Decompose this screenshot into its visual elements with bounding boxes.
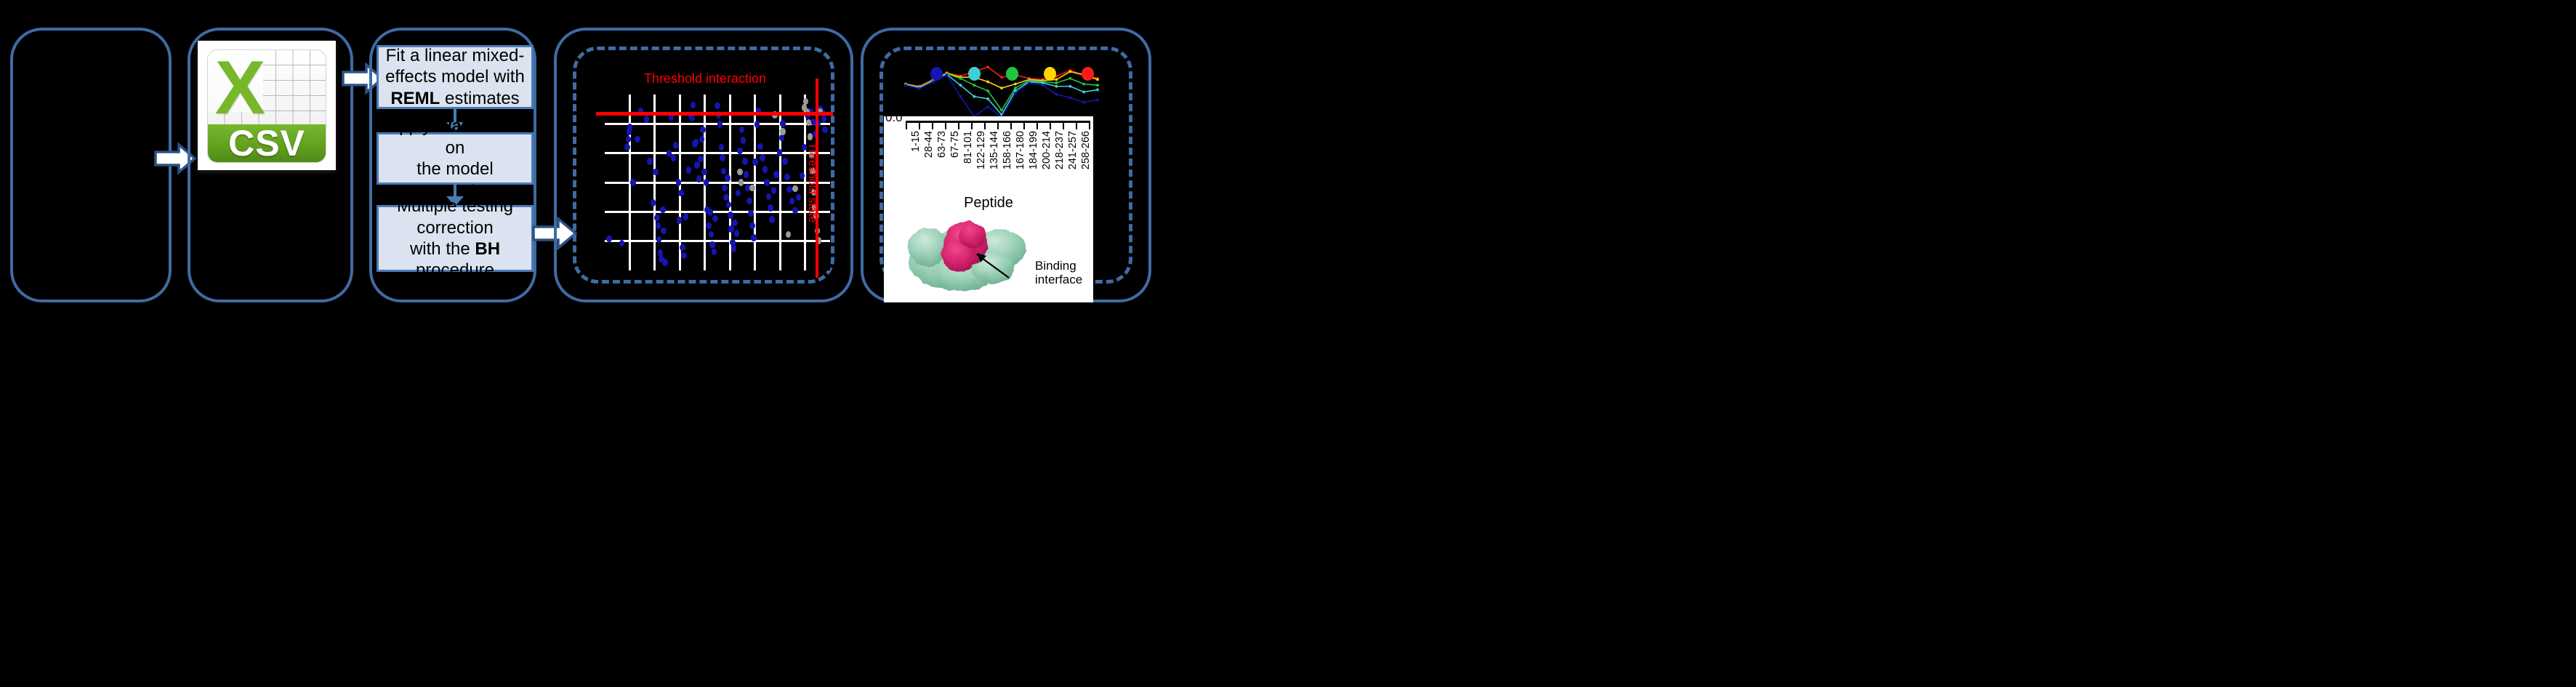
scatter-point: [712, 249, 717, 256]
peptide-series-marker: [904, 84, 907, 87]
scatter-point: [680, 244, 685, 252]
peptide-axis-tick-label: 167-180: [1015, 131, 1026, 169]
scatter-point: [752, 158, 758, 166]
threshold-scatter-chart: Threshold interaction Threshold state: [574, 54, 836, 278]
scatter-point: [751, 234, 757, 241]
peptide-series-marker: [1000, 87, 1003, 89]
scatter-point: [760, 154, 765, 161]
scatter-point: [757, 143, 763, 150]
csv-label: CSV: [228, 125, 305, 161]
grid-line-horizontal: [605, 152, 830, 154]
scatter-point: [821, 116, 827, 123]
scatter-point: [800, 172, 805, 180]
scatter-point: [690, 115, 696, 122]
peptide-series-marker: [1082, 101, 1085, 104]
scatter-point: [624, 144, 630, 151]
scatter-point: [732, 220, 738, 227]
scatter-point: [736, 190, 741, 197]
scatter-point: [654, 214, 660, 222]
peptide-axis-tick: [1076, 123, 1077, 129]
scatter-point: [748, 210, 754, 217]
peptide-legend: [884, 67, 1102, 83]
scatter-point: [737, 148, 743, 155]
flow-step1-line2: effects model with: [385, 67, 525, 87]
peptide-series-marker: [1082, 83, 1085, 86]
scatter-point: [723, 194, 729, 201]
peptide-axis-tick: [984, 123, 986, 129]
peptide-axis-tick-label: 258-266: [1080, 131, 1092, 169]
scatter-point: [683, 213, 689, 220]
grid-line-vertical: [653, 95, 656, 270]
flow-step-multiple-testing: Multiple testing correction with the BH …: [377, 205, 534, 272]
scatter-point: [709, 231, 715, 238]
scatter-point: [806, 119, 812, 126]
scatter-point: [694, 161, 700, 169]
flow-step-wald-tests: Apply Wald tests on the model parameters: [377, 132, 534, 185]
peptide-axis-tick: [919, 123, 920, 129]
peptide-axis-tick: [971, 123, 973, 129]
scatter-point: [796, 194, 802, 201]
scatter-point: [709, 241, 715, 249]
excel-x-glyph: X: [215, 54, 261, 124]
flow-step2-bold: Wald tests: [436, 116, 523, 136]
flow-step-fit-model: Fit a linear mixed- effects model with R…: [377, 45, 534, 109]
scatter-point: [671, 154, 677, 161]
protein-surface-svg: [884, 211, 1093, 302]
scatter-point: [619, 240, 625, 247]
peptide-axis-tick-label: 1-15: [910, 131, 922, 152]
peptide-series-marker: [1042, 84, 1045, 87]
scatter-point: [660, 206, 666, 214]
scatter-point: [725, 174, 730, 182]
binding-interface-label: Binding interface: [1035, 259, 1092, 286]
scatter-point: [707, 209, 713, 216]
scatter-point: [746, 198, 752, 205]
flow-step3-post: procedure: [416, 260, 494, 280]
peptide-axis-tick: [1023, 123, 1025, 129]
flow-step3-line1: Multiple testing: [397, 196, 513, 216]
scatter-point: [715, 103, 720, 110]
peptide-axis-tick-label: 81-101: [962, 131, 974, 164]
scatter-point: [627, 124, 633, 131]
scatter-point: [779, 134, 785, 142]
peptide-series-marker: [1096, 99, 1099, 102]
peptide-axis-tick-label: 135-144: [989, 131, 1000, 169]
flow-step3-pre: with the: [410, 239, 475, 259]
scatter-point: [630, 179, 636, 186]
scatter-point: [769, 216, 775, 223]
peptide-axis-tick: [932, 123, 933, 129]
peptide-series-marker: [1014, 87, 1017, 89]
scatter-point: [786, 231, 792, 238]
legend-dot-series-1: [930, 67, 943, 81]
peptide-axis-tick-label: 184-199: [1028, 131, 1039, 169]
peptide-series-marker: [918, 87, 921, 90]
scatter-point: [686, 166, 692, 174]
peptide-axis-tick-label: 63-73: [936, 131, 948, 158]
scatter-point: [738, 179, 744, 186]
scatter-point: [662, 259, 668, 266]
legend-dot-series-5: [1082, 67, 1094, 81]
scatter-point: [782, 158, 788, 165]
scatter-point: [764, 179, 770, 186]
scatter-point: [780, 120, 786, 127]
peptide-y-tick-label: 0.0: [885, 116, 903, 125]
scatter-point: [693, 139, 699, 146]
peptide-series-marker: [1096, 89, 1099, 92]
peptide-axis-tick: [958, 123, 959, 129]
scatter-point: [635, 136, 640, 143]
flow-step2-post: on: [446, 138, 465, 158]
threshold-state-label: Threshold state: [805, 142, 818, 222]
flow-step3-line2: correction: [416, 218, 493, 238]
scatter-point: [661, 228, 667, 235]
peptide-series-marker: [1082, 91, 1085, 94]
panel-data-source: [10, 28, 172, 302]
protein-structure-image: Binding interface: [884, 211, 1093, 302]
scatter-point: [691, 102, 696, 109]
threshold-interaction-line: [596, 112, 833, 116]
peptide-series-marker: [973, 95, 975, 98]
peptide-series-marker: [1014, 83, 1017, 86]
scatter-point: [766, 193, 772, 201]
scatter-point: [717, 121, 723, 128]
flow-step1-line1: Fit a linear mixed-: [386, 46, 525, 65]
peptide-series-marker: [1068, 96, 1071, 99]
peptide-axis-tick-label: 28-44: [923, 131, 935, 158]
peptide-series-marker: [986, 105, 989, 108]
flow-step1-bold: REML: [390, 89, 440, 108]
scatter-point: [741, 137, 746, 144]
legend-dot-series-3: [1006, 67, 1018, 81]
peptide-axis-tick-label: 158-166: [1002, 131, 1013, 169]
peptide-series-marker: [973, 84, 975, 87]
scatter-point: [651, 199, 656, 206]
peptide-axis-tick-label: 200-214: [1041, 131, 1052, 169]
peptide-series-marker: [959, 84, 962, 87]
csv-file-icon: X CSV: [198, 41, 336, 170]
legend-dot-series-2: [968, 67, 981, 81]
scatter-point: [719, 144, 725, 151]
scatter-point: [677, 217, 683, 224]
scatter-point: [656, 222, 661, 230]
scatter-point: [742, 158, 748, 165]
legend-dot-series-4: [1044, 67, 1056, 81]
scatter-point: [744, 171, 749, 178]
scatter-point: [768, 204, 773, 212]
peptide-axis-tick-label: 67-75: [949, 131, 961, 158]
peptide-axis-tick: [1010, 123, 1012, 129]
scatter-point: [721, 168, 727, 175]
peptide-axis-tick: [945, 123, 946, 129]
scatter-point: [701, 169, 707, 176]
peptide-series-marker: [986, 97, 989, 100]
scatter-point: [698, 156, 704, 163]
peptide-axis-tick: [906, 123, 907, 129]
peptide-axis-tick-label: 241-257: [1067, 131, 1079, 169]
csv-icon-body: X CSV: [207, 49, 326, 163]
peptide-series-marker: [1014, 92, 1017, 95]
flowchart-figure: X CSV Fit a linear mixed- effects model …: [0, 0, 2576, 687]
scatter-point: [673, 142, 679, 149]
scatter-point: [722, 185, 728, 192]
flow-step3-bold: BH: [475, 239, 500, 259]
peptide-axis-tick: [1037, 123, 1038, 129]
scatter-point: [653, 169, 659, 176]
scatter-point: [789, 198, 795, 205]
scatter-point: [712, 215, 718, 222]
scatter-point: [731, 245, 737, 252]
scatter-point: [803, 98, 809, 105]
scatter-point: [706, 222, 712, 230]
peptide-series-marker: [1068, 85, 1071, 88]
scatter-point: [681, 252, 687, 260]
scatter-point: [822, 126, 828, 134]
binding-label-line2: interface: [1035, 273, 1082, 286]
scatter-point: [737, 169, 743, 176]
csv-label-band: CSV: [208, 124, 326, 162]
scatter-point: [704, 179, 709, 186]
flow-step1-line3: estimates: [440, 89, 519, 108]
peptide-axis-tick-label: 122-129: [975, 131, 987, 169]
scatter-point: [606, 236, 612, 243]
peptide-axis-tick: [997, 123, 999, 129]
scatter-point: [771, 187, 777, 194]
scatter-point: [676, 179, 682, 186]
scatter-point: [700, 126, 706, 134]
scatter-point: [678, 190, 684, 197]
scatter-point: [773, 171, 779, 178]
peptide-series-marker: [1055, 93, 1058, 96]
scatter-point: [644, 116, 650, 123]
peptide-series-marker: [1096, 84, 1099, 87]
peptide-series-marker: [1055, 85, 1058, 88]
scatter-point: [792, 207, 798, 214]
scatter-point: [728, 225, 734, 233]
scatter-point: [739, 126, 745, 134]
peptide-series-marker: [986, 89, 989, 92]
scatter-point: [734, 230, 740, 237]
scatter-point: [762, 166, 768, 173]
scatter-plot-area: [605, 95, 830, 270]
scatter-point: [749, 222, 755, 230]
grid-line-horizontal: [605, 182, 830, 184]
scatter-point: [754, 121, 760, 128]
peptide-axis-and-structure: 0.0 1-1528-4463-7367-7581-101122-129135-…: [884, 116, 1093, 302]
scatter-point: [808, 133, 813, 140]
scatter-point: [647, 158, 653, 165]
peptide-x-axis-label: Peptide: [884, 195, 1093, 212]
peptide-axis-tick: [1063, 123, 1064, 129]
flow-step2-pre: Apply: [387, 116, 436, 136]
peptide-series-marker: [959, 95, 962, 98]
scatter-point: [777, 149, 783, 156]
scatter-point: [720, 154, 725, 161]
peptide-axis-tick: [1050, 123, 1051, 129]
binding-label-line1: Binding: [1035, 259, 1076, 273]
scatter-point: [792, 185, 798, 193]
peptide-axis-tick: [1089, 123, 1090, 129]
threshold-interaction-label: Threshold interaction: [574, 71, 836, 87]
scatter-point: [728, 212, 733, 219]
peptide-axis-tick-label: 218-237: [1054, 131, 1066, 169]
scatter-point: [749, 185, 755, 192]
peptide-series-marker: [1000, 109, 1003, 112]
grid-line-horizontal: [605, 240, 830, 242]
scatter-point: [780, 128, 786, 135]
scatter-point: [784, 174, 790, 181]
scatter-point: [786, 186, 792, 193]
